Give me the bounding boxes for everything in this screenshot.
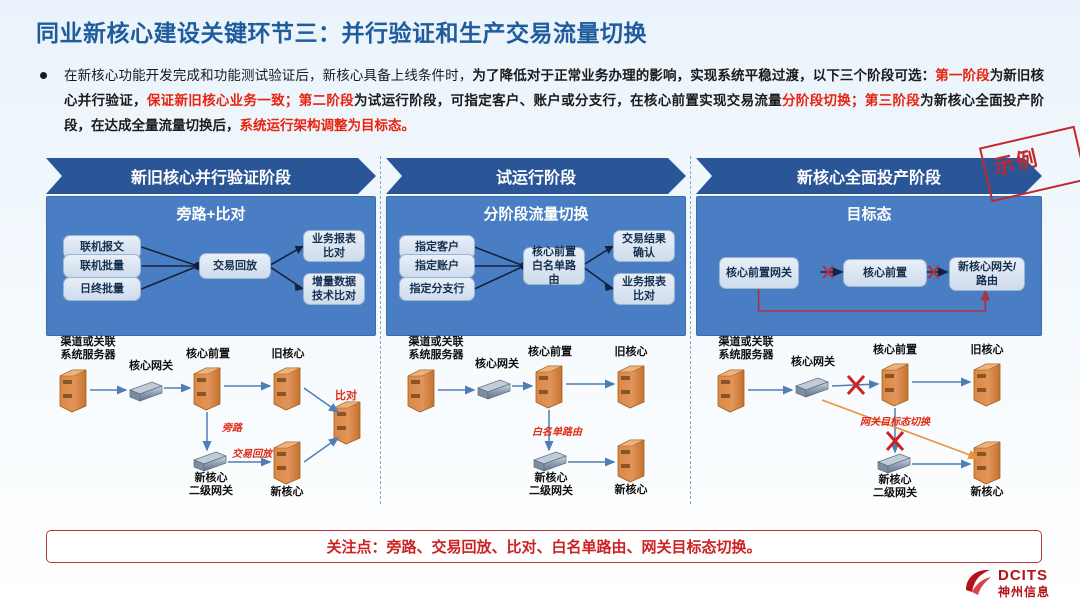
- label-whitelist-2: 白名单路由: [522, 426, 592, 439]
- page-title: 同业新核心建设关键环节三：并行验证和生产交易流量切换: [36, 14, 647, 48]
- dcits-logo-cn: 神州信息: [998, 583, 1050, 600]
- phase-column-3: 目标态: [696, 196, 1042, 526]
- column-divider-1: [380, 156, 381, 504]
- label-old-core-1: 旧核心: [257, 348, 319, 361]
- server-icon-new-core-2: [618, 440, 644, 482]
- label-gateway-1: 核心网关: [120, 360, 182, 373]
- label-channel-1: 渠道或关联 系统服务器: [46, 336, 130, 362]
- label-old-core-3: 旧核心: [956, 344, 1018, 357]
- server-diagram-2: 渠道或关联 系统服务器 核心网关 核心前置 旧核心 白名单路由 新核心 二级网关…: [386, 338, 686, 526]
- label-old-core-2: 旧核心: [600, 346, 662, 359]
- server-icon-old-core-3: [974, 364, 1000, 406]
- gateway-icon-sub-1: [194, 452, 226, 471]
- server-diagram-3: 渠道或关联 系统服务器 核心网关 核心前置 旧核心 网关目标态切换 新核心 二级…: [696, 338, 1042, 526]
- server-icon-channel-1: [60, 370, 86, 412]
- server-icon-channel-2: [408, 370, 434, 412]
- server-icon-channel-3: [718, 370, 744, 412]
- flow2-input-3[interactable]: 指定分支行: [399, 277, 475, 301]
- dcits-logo: DCITS 神州信息: [962, 566, 1074, 602]
- flow2-output-2[interactable]: 业务报表比对: [613, 273, 675, 305]
- dcits-logo-en: DCITS: [998, 567, 1048, 584]
- gateway-icon-sub-2: [534, 452, 566, 471]
- slide-root: 同业新核心建设关键环节三：并行验证和生产交易流量切换 在新核心功能开发完成和功能…: [0, 0, 1080, 608]
- phase-banner-row: 新旧核心并行验证阶段 试运行阶段 新核心全面投产阶段: [46, 158, 1042, 194]
- flow-diagram-1: 旁路+比对 联机报文 联机批量 日终批量 交易回放 业务报表比对 增量数据技术比…: [46, 196, 376, 336]
- para-seg-1: 在新核心功能开发完成和功能测试验证后，新核心具备上线条件时，: [64, 68, 472, 83]
- flow3-node-3[interactable]: 新核心网关/路由: [949, 257, 1025, 291]
- flow1-output-2[interactable]: 增量数据技术比对: [303, 273, 365, 305]
- flow1-output-1[interactable]: 业务报表比对: [303, 230, 365, 262]
- server-icon-front-3: [882, 364, 908, 406]
- label-front-3: 核心前置: [864, 344, 926, 357]
- flow1-center[interactable]: 交易回放: [199, 253, 271, 279]
- bullet-paragraph: 在新核心功能开发完成和功能测试验证后，新核心具备上线条件时，为了降低对于正常业务…: [36, 63, 1044, 138]
- flow-diagram-2: 分阶段流量切换 指定客户 指定账户 指定分支行 核心前置白名单路由 交易结果确认…: [386, 196, 686, 336]
- server-icon-old-core-1: [274, 368, 300, 410]
- label-new-core-3: 新核心: [956, 486, 1018, 499]
- flow3-node-1[interactable]: 核心前置网关: [719, 257, 799, 289]
- para-seg-9: 第三阶段: [865, 93, 921, 108]
- label-bypass-1: 旁路: [212, 422, 252, 435]
- server-diagram-1: 渠道或关联 系统服务器 核心网关 核心前置 旧核心 比对 旁路 交易回放 新核心…: [46, 338, 376, 526]
- label-switch-3: 网关目标态切换: [846, 416, 944, 429]
- gateway-icon-2: [478, 380, 510, 399]
- para-seg-2: 为了降低对于正常业务办理的影响，实现系统平稳过渡，以下三个阶段可选：: [472, 68, 935, 83]
- example-stamp-label: 示例: [990, 142, 1042, 182]
- para-seg-8: 分阶段切换；: [782, 93, 865, 108]
- flow1-input-3[interactable]: 日终批量: [63, 277, 141, 301]
- server-icon-front-2: [536, 366, 562, 408]
- gateway-icon-3: [796, 378, 828, 397]
- label-sub-gateway-2: 新核心 二级网关: [520, 472, 582, 498]
- phase-column-2: 分阶段流量切换 指定客户 指定账户 指定分支行 核心前置白名单路由 交易结果确认…: [386, 196, 686, 526]
- label-new-core-2: 新核心: [600, 484, 662, 497]
- column-divider-2: [690, 156, 691, 504]
- label-channel-3: 渠道或关联 系统服务器: [704, 336, 788, 362]
- gateway-icon-sub-3: [878, 454, 910, 473]
- para-seg-11: 系统运行架构调整为目标态。: [240, 118, 416, 133]
- flow2-input-2[interactable]: 指定账户: [399, 254, 475, 278]
- label-gateway-3: 核心网关: [782, 356, 844, 369]
- label-replay-1: 交易回放: [226, 448, 278, 461]
- server-icon-compare-1: [334, 402, 360, 444]
- para-seg-5: 保证新旧核心业务一致；: [147, 93, 299, 108]
- para-seg-3: 第一阶段: [935, 68, 989, 83]
- flow1-input-2[interactable]: 联机批量: [63, 254, 141, 278]
- phase-banner-1[interactable]: 新旧核心并行验证阶段: [46, 158, 376, 194]
- flow2-center[interactable]: 核心前置白名单路由: [523, 247, 585, 285]
- server-icon-new-core-3: [974, 442, 1000, 484]
- label-front-2: 核心前置: [519, 346, 581, 359]
- label-sub-gateway-3: 新核心 二级网关: [864, 474, 926, 500]
- bullet-dot-icon: [40, 72, 47, 79]
- para-seg-7: 为试运行阶段，可指定客户、账户或分支行，在核心前置实现交易流量: [354, 93, 782, 108]
- label-front-1: 核心前置: [177, 348, 239, 361]
- phase-columns: 旁路+比对 联机报文 联机批量 日终批量 交易回放 业务报表比对 增量数据技术比…: [46, 196, 1042, 526]
- label-sub-gateway-1: 新核心 二级网关: [180, 472, 242, 498]
- label-compare-1: 比对: [318, 390, 374, 403]
- bullet-text: 在新核心功能开发完成和功能测试验证后，新核心具备上线条件时，为了降低对于正常业务…: [64, 63, 1044, 138]
- label-new-core-1: 新核心: [256, 486, 318, 499]
- phase-banner-2[interactable]: 试运行阶段: [386, 158, 686, 194]
- flow-diagram-3: 目标态: [696, 196, 1042, 336]
- dcits-logo-icon: [962, 566, 996, 600]
- phase-column-1: 旁路+比对 联机报文 联机批量 日终批量 交易回放 业务报表比对 增量数据技术比…: [46, 196, 376, 526]
- flow2-output-1[interactable]: 交易结果确认: [613, 230, 675, 262]
- gateway-icon-1: [130, 382, 162, 401]
- label-gateway-2: 核心网关: [466, 358, 528, 371]
- para-seg-6: 第二阶段: [298, 93, 354, 108]
- flow3-node-2[interactable]: 核心前置: [843, 259, 927, 287]
- footer-note: 关注点：旁路、交易回放、比对、白名单路由、网关目标态切换。: [46, 530, 1042, 563]
- server-icon-old-core-2: [618, 366, 644, 408]
- server-icon-front-1: [194, 368, 220, 410]
